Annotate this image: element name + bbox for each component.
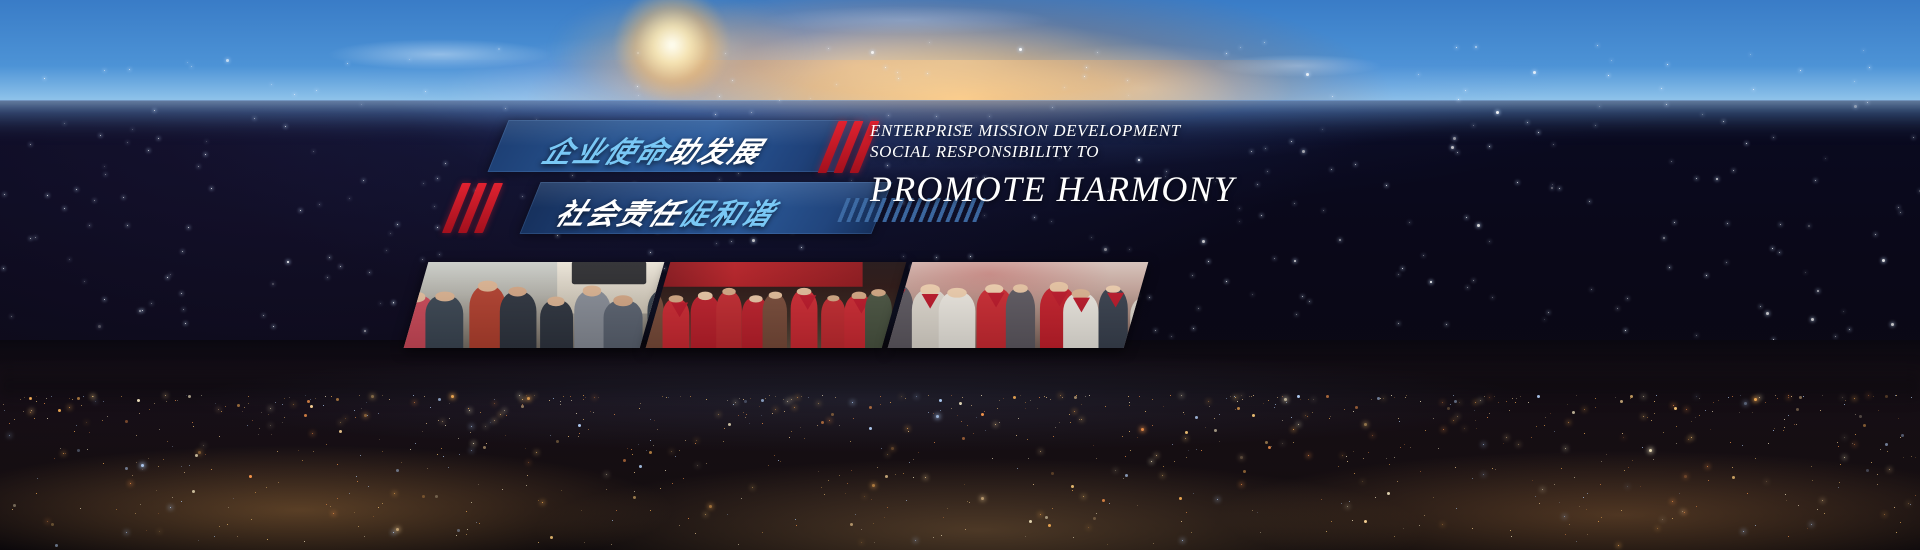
person-body xyxy=(939,291,975,348)
person-head xyxy=(548,297,565,306)
red-slash-left-icon xyxy=(442,183,503,233)
headline-cn-line2-accent: 促和谐 xyxy=(674,197,781,231)
photo-strip xyxy=(404,262,1155,348)
headline-cn-line1-plain: 助发展 xyxy=(661,135,768,169)
photo-red-scarf-volunteers[interactable] xyxy=(888,262,1149,348)
promo-banner: 企业使命助发展 社会责任促和谐 ENTERPRISE MISSION DEVEL… xyxy=(0,0,1920,550)
person-body xyxy=(821,298,845,348)
person-body xyxy=(716,291,742,348)
person-head xyxy=(769,291,782,298)
person-head xyxy=(872,289,886,296)
person-body xyxy=(865,292,892,348)
red-scarf xyxy=(1107,292,1124,307)
person-head xyxy=(1013,285,1028,293)
person-head xyxy=(948,288,967,298)
headline-cn-line2-plain: 社会责任 xyxy=(550,197,688,231)
red-scarf xyxy=(1140,302,1148,317)
headline-en-line3: PROMOTE HARMONY xyxy=(870,168,1235,210)
red-scarf xyxy=(987,293,1004,308)
person-body xyxy=(425,295,463,348)
photo-red-banner xyxy=(649,262,862,286)
photo-community-women-children[interactable] xyxy=(404,262,665,348)
photo-content xyxy=(888,262,1149,348)
person-head xyxy=(583,286,602,296)
person-head xyxy=(1138,293,1148,303)
headline-en-line1: ENTERPRISE MISSION DEVELOPMENT xyxy=(870,120,1235,141)
headline-cn-line2: 社会责任促和谐 xyxy=(550,191,784,233)
person-body xyxy=(1130,297,1149,348)
headline-en-block: ENTERPRISE MISSION DEVELOPMENT SOCIAL RE… xyxy=(870,120,1235,210)
photo-content xyxy=(404,262,665,348)
person-head xyxy=(478,281,497,291)
red-scarf xyxy=(1073,298,1090,313)
photo-content xyxy=(646,262,907,348)
red-scarf xyxy=(799,295,816,310)
person-body xyxy=(540,300,573,348)
red-scarf xyxy=(671,302,688,317)
headline-cn-line1: 企业使命助发展 xyxy=(537,129,771,171)
photo-stage-volunteer-ceremony[interactable] xyxy=(646,262,907,348)
red-scarf xyxy=(922,294,939,309)
person-head xyxy=(749,295,763,302)
person-body xyxy=(1006,288,1035,348)
headline-cn-line1-accent: 企业使命 xyxy=(537,135,675,169)
person-head xyxy=(406,292,425,302)
banner-content: 企业使命助发展 社会责任促和谐 ENTERPRISE MISSION DEVEL… xyxy=(0,0,1920,550)
headline-en-line2: SOCIAL RESPONSIBILITY TO xyxy=(870,141,1235,162)
photo-people xyxy=(404,262,665,348)
person-body xyxy=(500,291,536,348)
person-head xyxy=(698,292,713,300)
person-body xyxy=(762,294,787,348)
person-body xyxy=(604,300,643,348)
